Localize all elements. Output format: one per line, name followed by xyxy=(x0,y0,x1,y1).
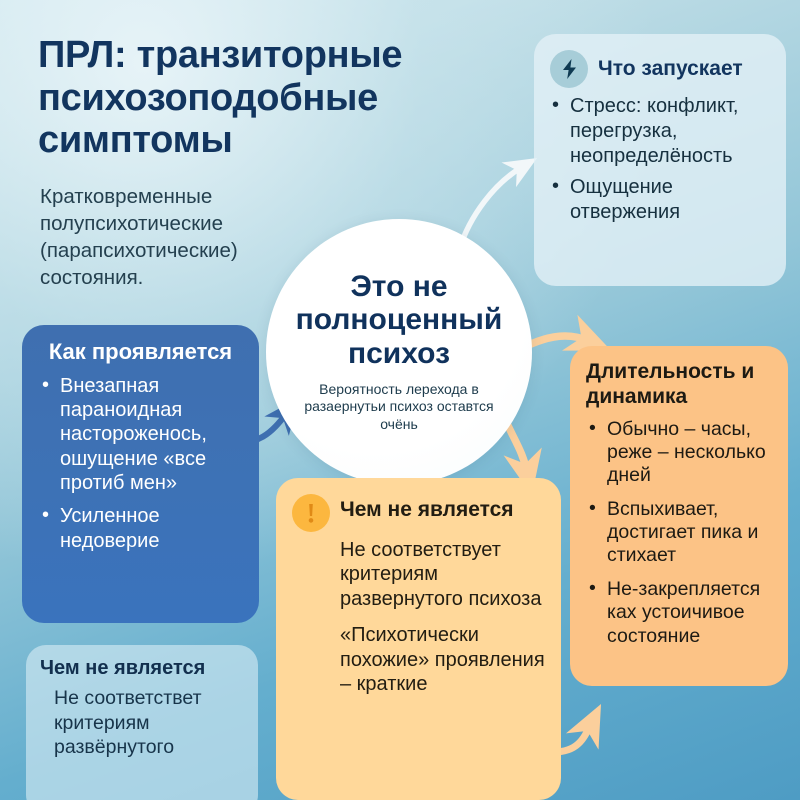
triggers-header: Что запускает xyxy=(550,50,772,88)
card-not-is-left[interactable]: Чем не является Не соответствет критерия… xyxy=(26,645,258,800)
list-item: Внезапная параноидная настороженось, ошу… xyxy=(38,374,243,496)
lightning-bolt-icon xyxy=(550,50,588,88)
not-is-paragraph: Не соответствует критериям развернутого … xyxy=(340,538,545,611)
triggers-list: Стресс: конфликт, перегрузка, неопределё… xyxy=(550,94,772,225)
card-not-is[interactable]: Чем не является Не соответствует критери… xyxy=(276,478,561,800)
duration-list: Обычно – часы, реже – несколько дней Всп… xyxy=(586,418,774,649)
core-title: Это не полноценный психоз xyxy=(284,270,514,371)
card-duration[interactable]: Длительность и динамика Обычно – часы, р… xyxy=(570,346,788,686)
list-item: Вспыхивает, достигает пика и стихает xyxy=(586,498,774,568)
page-title: ПРЛ: транзиторные психозоподобные симпто… xyxy=(38,34,508,162)
not-is-title: Чем не является xyxy=(340,492,514,522)
arrow-core-to-triggers xyxy=(459,167,522,250)
core-circle[interactable]: Это не полноценный психоз Вероятность ле… xyxy=(266,219,532,485)
duration-title: Длительность и динамика xyxy=(586,360,774,410)
manifestation-title: Как проявляется xyxy=(38,339,243,365)
list-item: Стресс: конфликт, перегрузка, неопределё… xyxy=(550,94,772,168)
card-manifestation[interactable]: Как проявляется Внезапная параноидная на… xyxy=(22,325,259,623)
core-subtext: Вероятность лерехода в разаернутьи психо… xyxy=(284,381,514,435)
list-item: Усиленное недоверие xyxy=(38,504,243,553)
not-is-left-body: Не соответствет критериям развёрнутого xyxy=(40,686,244,760)
not-is-left-title: Чем не является xyxy=(40,657,244,680)
not-is-header: Чем не является xyxy=(292,492,545,532)
infographic-canvas: ПРЛ: транзиторные психозоподобные симпто… xyxy=(0,0,800,800)
triggers-title: Что запускает xyxy=(598,57,743,81)
list-item: Не-закрепляется ках устоичивое состояние xyxy=(586,578,774,648)
manifestation-list: Внезапная параноидная настороженось, ошу… xyxy=(38,374,243,554)
exclamation-icon xyxy=(292,494,330,532)
card-triggers[interactable]: Что запускает Стресс: конфликт, перегруз… xyxy=(534,34,786,286)
list-item: Ощущение отвержения xyxy=(550,175,772,225)
list-item: Обычно – часы, реже – несколько дней xyxy=(586,418,774,488)
not-is-paragraph: «Психотически похожие» проявления – крат… xyxy=(340,623,545,696)
